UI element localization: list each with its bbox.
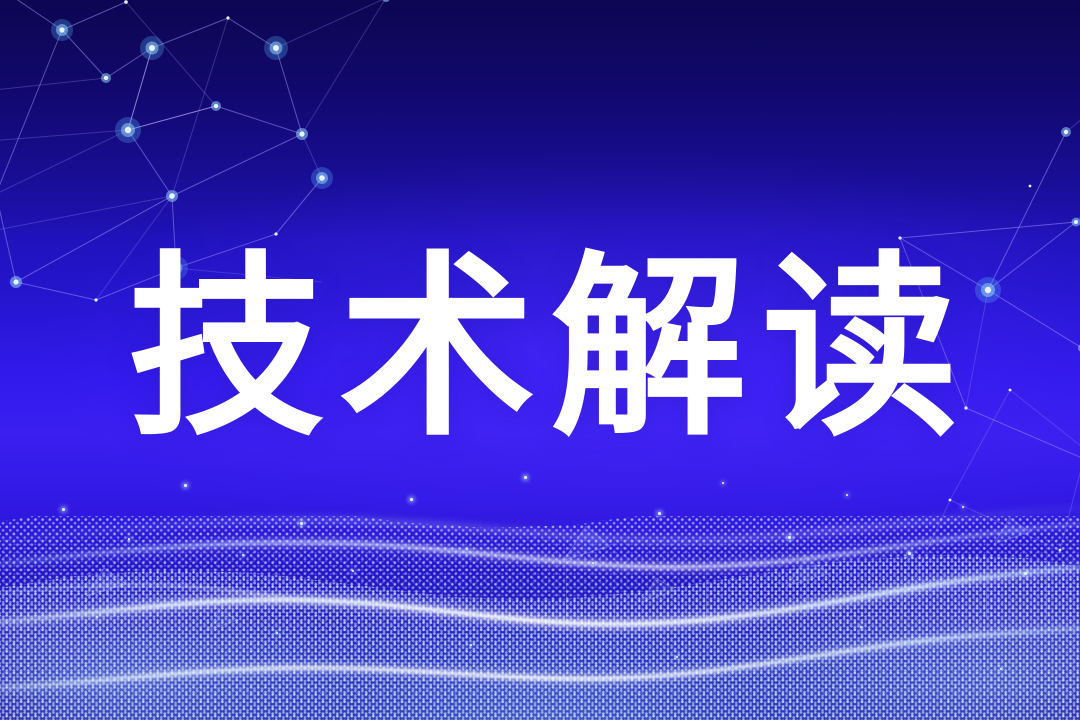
wave-spark: [300, 522, 303, 525]
wave-spark: [722, 482, 724, 484]
wave-crest-ribbons: [0, 420, 1080, 720]
wave-shard: [640, 576, 678, 606]
wave-spark: [860, 626, 862, 628]
wave-spark: [96, 616, 98, 618]
wave-spark: [676, 656, 678, 658]
wave-spark: [128, 538, 130, 540]
wave-filament: [902, 562, 903, 618]
wave-filament: [706, 556, 707, 620]
wave-spark: [276, 632, 278, 634]
wave-spark: [184, 484, 187, 487]
wave-shard: [784, 554, 830, 590]
wave-spark: [410, 498, 413, 501]
wave-spark: [352, 570, 354, 572]
headline-char-3: 解: [551, 251, 747, 447]
wave-shard: [206, 608, 240, 634]
wave-spark: [524, 476, 527, 479]
wave-filament: [318, 550, 319, 620]
headline-char-2: 术: [339, 251, 535, 447]
wave-spark: [470, 644, 472, 646]
headline-char-4: 读: [762, 251, 958, 447]
wave-spark: [242, 554, 244, 556]
wave-spark: [788, 536, 791, 539]
poster-canvas: 技 术 解 读: [0, 0, 1080, 720]
wave-filament: [442, 566, 443, 620]
wave-spark: [908, 552, 911, 555]
wave-shard: [992, 516, 1032, 548]
wave-shard: [84, 566, 128, 600]
wave-shard: [560, 524, 612, 564]
headline-char-1: 技: [128, 251, 324, 447]
wave-filament: [986, 530, 987, 618]
wave-spark: [658, 512, 661, 515]
wave-filament: [1046, 516, 1047, 616]
wave-spark: [846, 494, 848, 496]
wave-filament: [614, 570, 615, 622]
wave-spark: [962, 506, 964, 508]
wave-spark: [1024, 572, 1027, 575]
wave-spark: [62, 508, 65, 511]
wave-spark: [1000, 668, 1002, 670]
wave-spark: [466, 548, 468, 550]
particle-wave: [0, 420, 1080, 720]
wave-spark: [592, 562, 594, 564]
